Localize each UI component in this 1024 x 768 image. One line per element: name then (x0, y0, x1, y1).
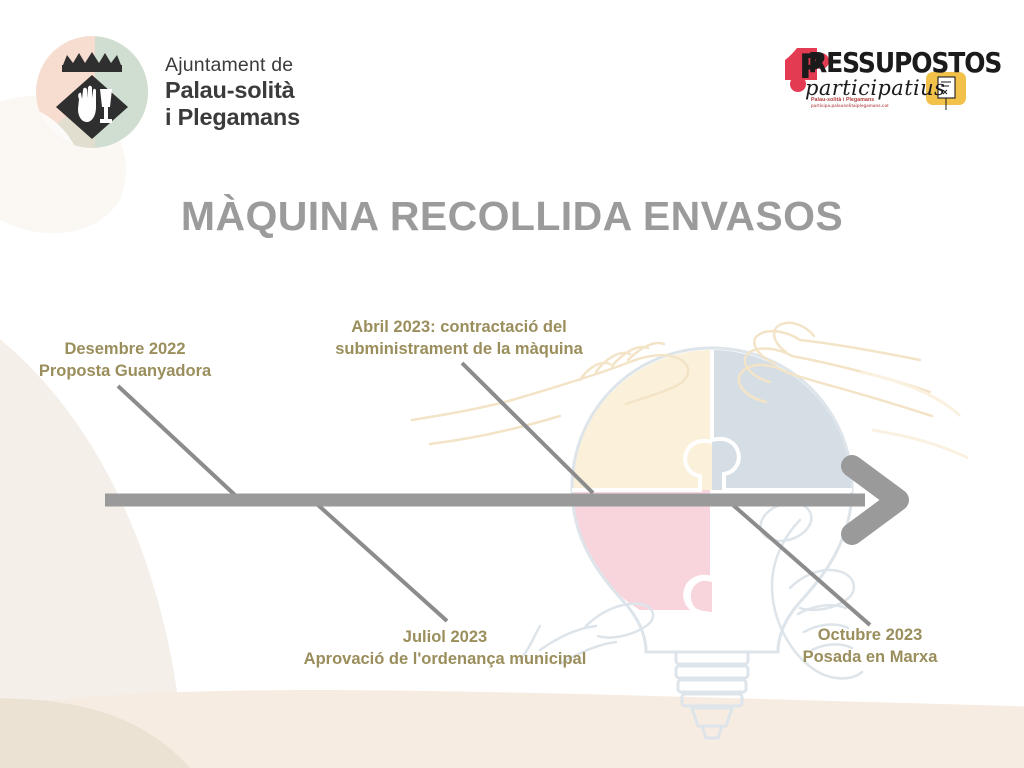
connector-line-juliol-2023 (318, 505, 447, 621)
timeline-arrow-shaft (105, 494, 865, 507)
milestone-date: Abril 2023: contractació del (300, 316, 618, 338)
milestone-description: Aprovació de l'ordenança municipal (275, 648, 615, 670)
connector-line-abril-2023 (462, 363, 593, 493)
milestone-label-desembre-2022: Desembre 2022 Proposta Guanyadora (0, 338, 250, 382)
milestone-date: Octubre 2023 (765, 624, 975, 646)
milestone-label-octubre-2023: Octubre 2023 Posada en Marxa (765, 624, 975, 668)
milestone-date: Desembre 2022 (0, 338, 250, 360)
connector-line-desembre-2022 (118, 386, 236, 496)
milestone-date: Juliol 2023 (275, 626, 615, 648)
milestone-description: Proposta Guanyadora (0, 360, 250, 382)
milestone-description: subministrament de la màquina (300, 338, 618, 360)
slide-canvas: Ajuntament de Palau-solità i Plegamans P (0, 0, 1024, 768)
milestone-label-juliol-2023: Juliol 2023 Aprovació de l'ordenança mun… (275, 626, 615, 670)
milestone-description: Posada en Marxa (765, 646, 975, 668)
milestone-label-abril-2023: Abril 2023: contractació del subministra… (300, 316, 618, 360)
